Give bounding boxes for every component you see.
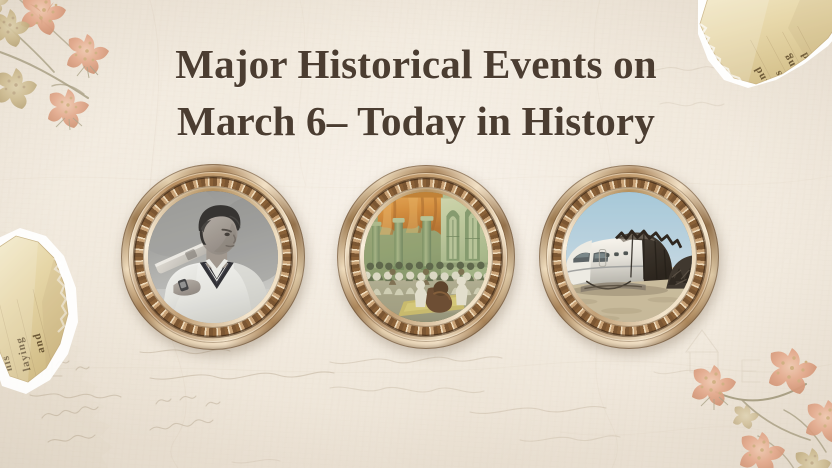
photo-cricketer [148, 191, 278, 323]
photo-royal-court [364, 192, 488, 322]
torn-paper-scrap-top-right: And his curing pelled ge [678, 0, 832, 116]
photo-frame-royal-court[interactable] [337, 165, 515, 349]
photo-frame-cricketer[interactable] [121, 164, 305, 350]
torn-paper-scrap-bottom-left: pelled curing his laying and [0, 222, 106, 402]
photo-plane-wreckage [566, 192, 692, 322]
photo-frame-plane-wreckage[interactable] [539, 165, 719, 349]
slide-canvas: Major Historical Events on March 6– Toda… [0, 0, 832, 468]
svg-text:ge: ge [818, 52, 832, 69]
